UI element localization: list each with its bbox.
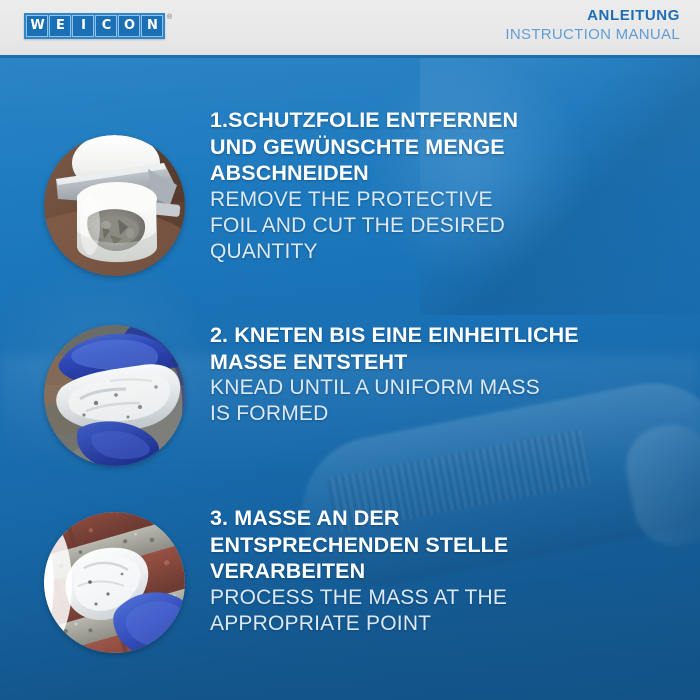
- step-3-de-line-3: VERARBEITEN: [210, 558, 682, 585]
- step-1-en-line-3: QUANTITY: [210, 239, 682, 265]
- logo-letter-boxes: W E I C O N: [24, 13, 165, 39]
- step-1-de-line-1: 1.SCHUTZFOLIE ENTFERNEN: [210, 107, 682, 134]
- step-1-en-line-2: FOIL AND CUT THE DESIRED: [210, 213, 682, 239]
- step-3-de-line-2: ENTSPRECHENDEN STELLE: [210, 532, 682, 559]
- instruction-steps: 1.SCHUTZFOLIE ENTFERNEN UND GEWÜNSCHTE M…: [0, 0, 700, 700]
- step-1-photo: [44, 135, 185, 276]
- logo-letter-i: I: [72, 15, 94, 37]
- applying-putty-wall-photo: [44, 512, 185, 653]
- registered-trademark-icon: ®: [167, 14, 172, 21]
- step-2-photo: [44, 325, 185, 466]
- header-title-block: ANLEITUNG INSTRUCTION MANUAL: [505, 6, 680, 45]
- step-1-de-line-3: ABSCHNEIDEN: [210, 160, 682, 187]
- step-2-de-line-1: 2. KNETEN BIS EINE EINHEITLICHE: [210, 322, 682, 349]
- logo-letter-c: C: [95, 15, 117, 37]
- step-3-en-line-1: PROCESS THE MASS AT THE: [210, 585, 682, 611]
- page-header: W E I C O N ® ANLEITUNG INSTRUCTION MANU…: [0, 0, 700, 55]
- kneading-putty-photo: [44, 325, 185, 466]
- cutting-putty-stick-photo: [44, 135, 185, 276]
- step-2-text: 2. KNETEN BIS EINE EINHEITLICHE MASSE EN…: [210, 322, 682, 427]
- step-1-text: 1.SCHUTZFOLIE ENTFERNEN UND GEWÜNSCHTE M…: [210, 107, 682, 265]
- step-3-en-line-2: APPROPRIATE POINT: [210, 611, 682, 637]
- step-1-en-line-1: REMOVE THE PROTECTIVE: [210, 187, 682, 213]
- logo-letter-o: O: [118, 15, 140, 37]
- step-1-de-line-2: UND GEWÜNSCHTE MENGE: [210, 134, 682, 161]
- header-title-en: INSTRUCTION MANUAL: [505, 25, 680, 45]
- header-title-de: ANLEITUNG: [505, 6, 680, 25]
- step-3-text: 3. MASSE AN DER ENTSPRECHENDEN STELLE VE…: [210, 505, 682, 637]
- header-divider: [0, 55, 700, 58]
- step-2-de-line-2: MASSE ENTSTEHT: [210, 349, 682, 376]
- logo-letter-n: N: [141, 15, 163, 37]
- logo-letter-w: W: [26, 15, 48, 37]
- step-2-en-line-2: IS FORMED: [210, 401, 682, 427]
- step-3-photo: [44, 512, 185, 653]
- logo-letter-e: E: [49, 15, 71, 37]
- weicon-logo: W E I C O N ®: [24, 13, 172, 39]
- step-2-en-line-1: KNEAD UNTIL A UNIFORM MASS: [210, 375, 682, 401]
- step-3-de-line-1: 3. MASSE AN DER: [210, 505, 682, 532]
